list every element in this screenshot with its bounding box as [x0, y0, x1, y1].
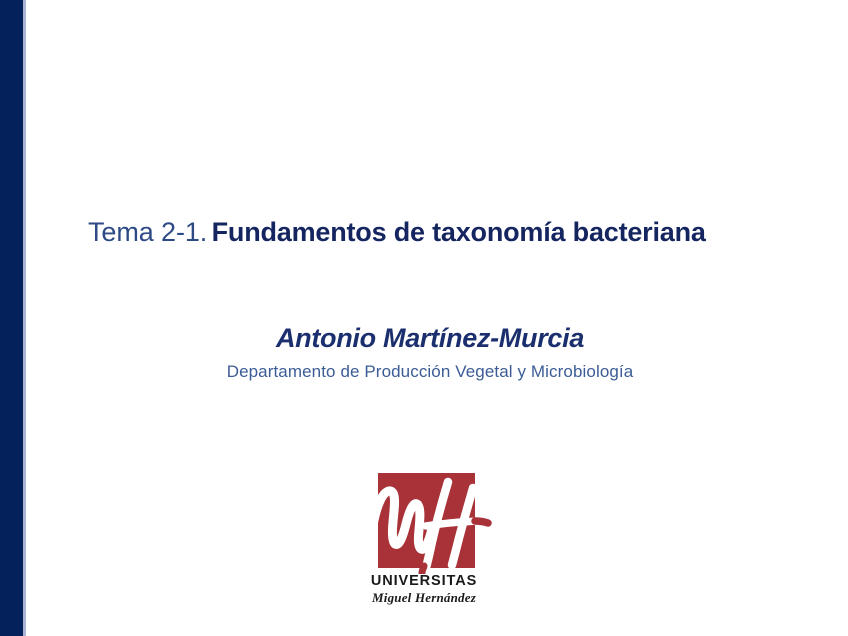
author-block: Antonio Martínez-Murcia Departamento de … — [0, 322, 848, 383]
presentation-slide: Tema 2-1. Fundamentos de taxonomía bacte… — [0, 0, 848, 636]
logo-mark-umh-icon — [356, 466, 492, 574]
slide-title: Tema 2-1. Fundamentos de taxonomía bacte… — [88, 217, 706, 248]
university-logo: UNIVERSITAS Miguel Hernández — [356, 466, 492, 616]
author-department: Departamento de Producción Vegetal y Mic… — [0, 361, 848, 382]
author-name: Antonio Martínez-Murcia — [0, 322, 848, 354]
title-main: Fundamentos de taxonomía bacteriana — [212, 217, 706, 247]
logo-miguel-hernandez-text: Miguel Hernández — [356, 591, 492, 606]
title-prefix: Tema 2-1. — [88, 217, 207, 247]
logo-wordmark: UNIVERSITAS Miguel Hernández — [356, 574, 492, 606]
logo-universitas-text: UNIVERSITAS — [356, 574, 492, 590]
left-accent-bar — [0, 0, 23, 636]
left-accent-bar-hairline — [23, 0, 26, 636]
